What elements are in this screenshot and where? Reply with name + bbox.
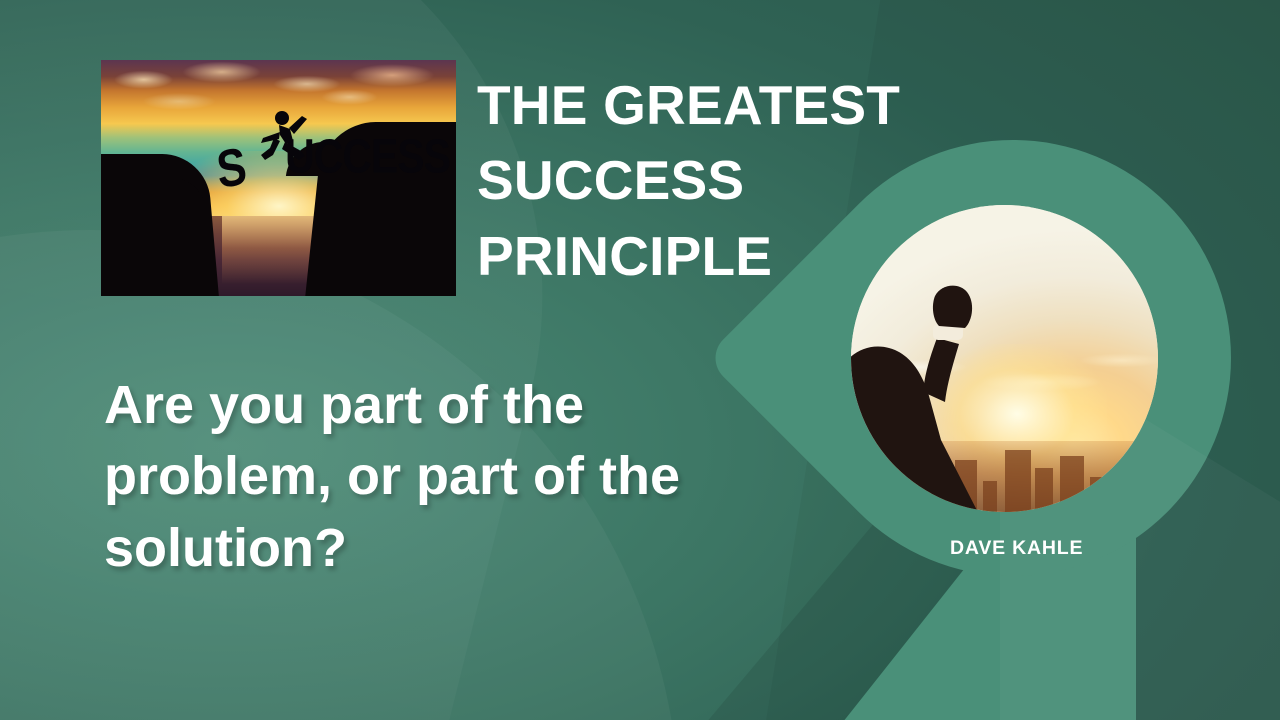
success-leap-photo: S UCCESS: [101, 60, 456, 296]
title-line-3: PRINCIPLE: [477, 219, 947, 294]
subtitle-line-3: solution?: [104, 513, 844, 584]
leaping-figure-icon: [249, 108, 319, 176]
page-title: THE GREATEST SUCCESS PRINCIPLE: [477, 68, 947, 294]
subtitle-line-2: problem, or part of the: [104, 441, 844, 512]
title-line-2: SUCCESS: [477, 143, 947, 218]
leap-cliff-left: [101, 154, 220, 296]
speaker-name-label: DAVE KAHLE: [950, 537, 1083, 560]
slide-canvas: S UCCESS: [0, 0, 1280, 720]
title-line-1: THE GREATEST: [477, 68, 947, 143]
leap-cliff-left-ledge: [101, 178, 205, 208]
slide-subtitle: Are you part of the problem, or part of …: [104, 370, 844, 584]
subtitle-line-1: Are you part of the: [104, 370, 844, 441]
raised-fist-silhouette-icon: [851, 280, 987, 512]
